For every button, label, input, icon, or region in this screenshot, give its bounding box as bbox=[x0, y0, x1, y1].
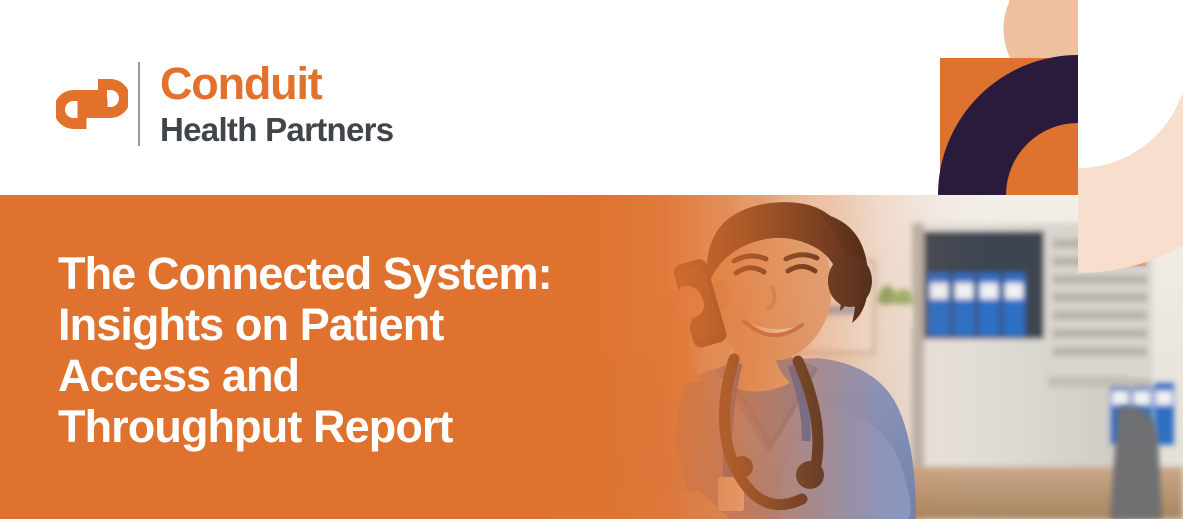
report-cover-page: Conduit Health Partners bbox=[0, 0, 1183, 519]
report-title-line-4: Throughput Report bbox=[58, 401, 618, 452]
brand-logo-lockup[interactable]: Conduit Health Partners bbox=[56, 58, 393, 150]
brand-name-primary: Conduit bbox=[160, 61, 393, 107]
report-title-line-3: Access and bbox=[58, 350, 618, 401]
report-title-line-1: The Connected System: bbox=[58, 248, 618, 299]
logo-divider bbox=[138, 62, 140, 146]
report-title: The Connected System: Insights on Patien… bbox=[58, 248, 618, 452]
brand-name-secondary: Health Partners bbox=[160, 113, 393, 148]
brand-wordmark: Conduit Health Partners bbox=[160, 61, 393, 148]
chp-monogram-icon bbox=[56, 63, 128, 145]
report-title-line-2: Insights on Patient bbox=[58, 299, 618, 350]
